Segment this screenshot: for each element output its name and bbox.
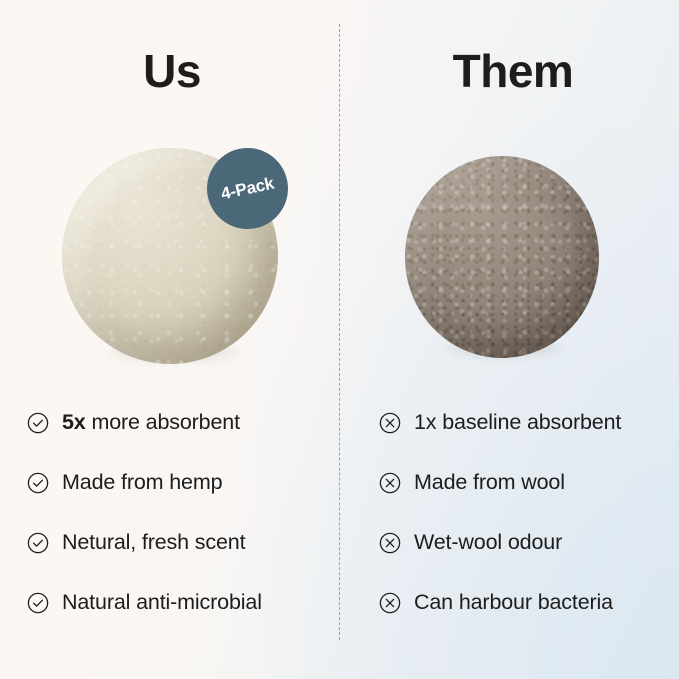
feature-row: Netural, fresh scent [27,524,262,562]
feature-label: 5x more absorbent [62,412,240,434]
feature-text: 1x baseline absorbent [414,410,621,434]
dryer-ball-taupe-icon [405,156,599,358]
feature-list-us: 5x more absorbent Made from hemp Netural… [27,404,262,622]
feature-text: Netural, fresh scent [62,530,245,554]
feature-label: Can harbour bacteria [414,592,613,614]
check-circle-icon [27,532,49,554]
four-pack-badge-label: 4-Pack [219,173,276,204]
feature-label: Netural, fresh scent [62,532,245,554]
feature-text: Made from hemp [62,470,222,494]
feature-row: 1x baseline absorbent [379,404,621,442]
feature-label: Natural anti-microbial [62,592,262,614]
feature-text: Natural anti-microbial [62,590,262,614]
x-circle-icon [379,532,401,554]
check-circle-icon [27,472,49,494]
column-heading-them: Them [453,44,574,98]
feature-label: Made from hemp [62,472,222,494]
check-circle-icon [27,592,49,614]
feature-text: more absorbent [86,410,240,434]
feature-text: Can harbour bacteria [414,590,613,614]
x-circle-icon [379,592,401,614]
feature-row: Can harbour bacteria [379,584,621,622]
feature-text: Wet-wool odour [414,530,562,554]
column-divider [339,24,340,640]
feature-label: 1x baseline absorbent [414,412,621,434]
feature-emphasis: 5x [62,410,86,434]
x-circle-icon [379,472,401,494]
feature-row: Made from wool [379,464,621,502]
check-circle-icon [27,412,49,434]
x-circle-icon [379,412,401,434]
felt-texture-overlay-them [405,156,599,358]
feature-row: Made from hemp [27,464,262,502]
column-heading-us: Us [143,44,201,98]
feature-list-them: 1x baseline absorbent Made from wool Wet… [379,404,621,622]
feature-row: Natural anti-microbial [27,584,262,622]
feature-label: Made from wool [414,472,565,494]
feature-row: 5x more absorbent [27,404,262,442]
feature-label: Wet-wool odour [414,532,562,554]
feature-row: Wet-wool odour [379,524,621,562]
feature-text: Made from wool [414,470,565,494]
comparison-infographic: Us Them 4-Pack 5x more absorbent Made fr… [0,0,679,679]
